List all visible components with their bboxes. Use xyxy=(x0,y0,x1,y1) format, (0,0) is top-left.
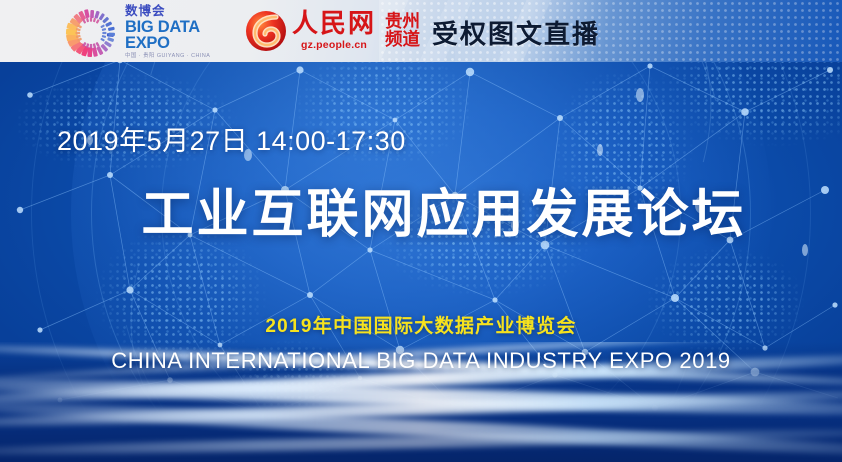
event-datetime: 2019年5月27日 14:00-17:30 xyxy=(57,119,406,158)
event-poster-banner: 数博会 BIG DATA EXPO 中国 · 贵阳 GUIYANG · CHIN… xyxy=(0,0,842,462)
expo-swirl-icon xyxy=(62,6,120,58)
sponsor-header-bar: 数博会 BIG DATA EXPO 中国 · 贵阳 GUIYANG · CHIN… xyxy=(0,0,842,62)
guizhou-channel-label: 贵州 频道 xyxy=(385,13,420,49)
expo-logo-line2: EXPO xyxy=(125,35,210,52)
people-cn-label: 人民网 xyxy=(292,11,376,37)
big-data-expo-logo[interactable]: 数博会 BIG DATA EXPO 中国 · 贵阳 GUIYANG · CHIN… xyxy=(62,4,232,60)
authorized-live-slogan: 受权图文直播 xyxy=(432,14,600,51)
expo-logo-cn: 数博会 xyxy=(125,5,210,18)
expo-logo-sub: 中国 · 贵阳 GUIYANG · CHINA xyxy=(125,54,210,59)
people-cn-guizhou-logo[interactable]: 人民网 gz.people.cn 贵州 频道 xyxy=(243,8,420,54)
expo-subtitle-cn: 2019年中国国际大数据产业博览会 xyxy=(0,311,842,338)
poster-content: 2019年5月27日 14:00-17:30 工业互联网应用发展论坛 2019年… xyxy=(0,0,842,462)
guizhou-channel-line2: 频道 xyxy=(385,31,420,49)
expo-subtitle-en: CHINA INTERNATIONAL BIG DATA INDUSTRY EX… xyxy=(0,348,842,374)
forum-title: 工业互联网应用发展论坛 xyxy=(0,172,842,247)
expo-logo-line1: BIG DATA xyxy=(125,19,210,36)
people-daily-swirl-icon xyxy=(243,8,289,54)
people-cn-url: gz.people.cn xyxy=(292,39,376,51)
